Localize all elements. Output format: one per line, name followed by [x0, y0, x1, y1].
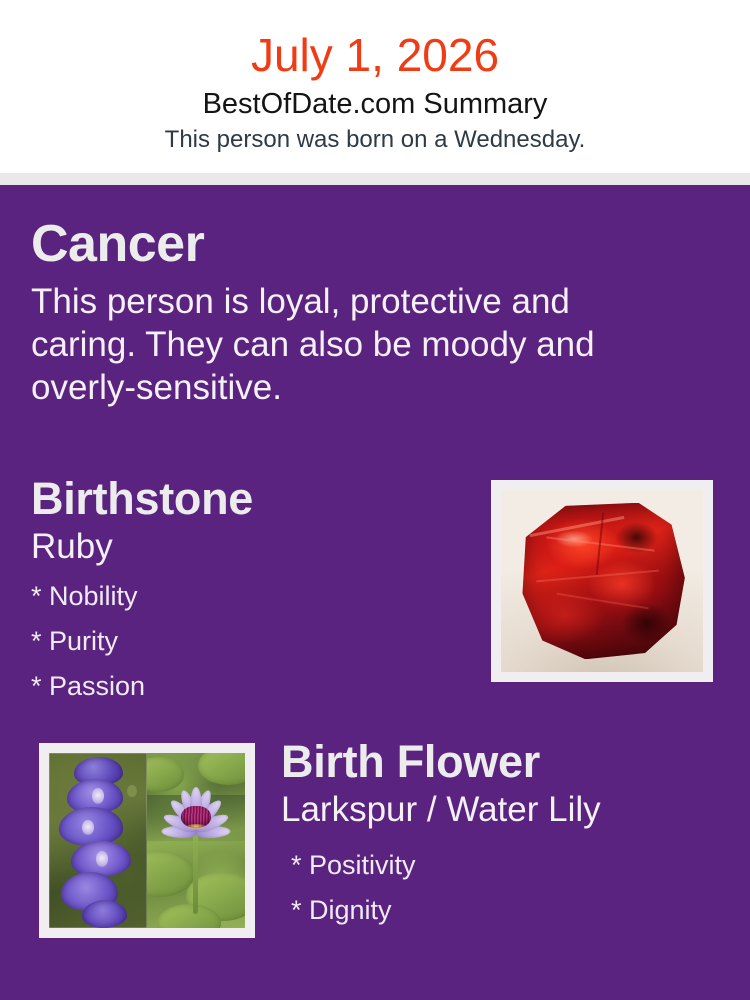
purple-content-panel: Cancer This person is loyal, protective …	[0, 185, 750, 1000]
ruby-crystal-icon	[519, 503, 685, 660]
larkspur-photo	[49, 753, 147, 928]
larkspur-bloom	[82, 900, 127, 928]
birth-flower-title: Birth Flower	[281, 736, 721, 788]
list-item: * Nobility	[31, 574, 461, 619]
weekday-line: This person was born on a Wednesday.	[0, 122, 750, 155]
lily-stamen-highlight	[186, 824, 207, 829]
summary-card: July 1, 2026 BestOfDate.com Summary This…	[0, 0, 750, 1000]
zodiac-section: Cancer This person is loyal, protective …	[31, 215, 671, 409]
birthstone-title: Birthstone	[31, 473, 461, 525]
larkspur-bloom-center	[82, 820, 94, 836]
water-lily-bloom	[159, 786, 233, 846]
header: July 1, 2026 BestOfDate.com Summary This…	[0, 0, 750, 173]
zodiac-description: This person is loyal, protective and car…	[31, 273, 651, 409]
list-item: * Dignity	[291, 888, 721, 933]
birthstone-section: Birthstone Ruby * Nobility * Purity * Pa…	[31, 473, 461, 709]
birth-flower-section: Birth Flower Larkspur / Water Lily * Pos…	[281, 736, 721, 933]
birthstone-image-frame	[491, 480, 713, 682]
list-item: * Positivity	[291, 843, 721, 888]
larkspur-bloom-center	[96, 851, 108, 867]
page-title-date: July 1, 2026	[0, 0, 750, 84]
birth-flower-photo-pair	[49, 753, 245, 928]
list-item: * Purity	[31, 619, 461, 664]
larkspur-bloom-center	[92, 788, 104, 804]
site-summary-label: BestOfDate.com Summary	[0, 84, 750, 122]
ruby-photo	[501, 490, 703, 672]
birth-flower-name: Larkspur / Water Lily	[281, 788, 721, 831]
birthstone-name: Ruby	[31, 525, 461, 568]
list-item: * Passion	[31, 664, 461, 709]
birth-flower-image-frame	[39, 743, 255, 938]
larkspur-bud	[127, 785, 137, 797]
zodiac-sign-title: Cancer	[31, 215, 671, 273]
birth-flower-trait-list: * Positivity * Dignity	[281, 831, 721, 933]
birthstone-trait-list: * Nobility * Purity * Passion	[31, 568, 461, 709]
water-lily-photo	[147, 753, 245, 928]
header-divider	[0, 173, 750, 185]
ruby-facet-line	[556, 593, 648, 609]
